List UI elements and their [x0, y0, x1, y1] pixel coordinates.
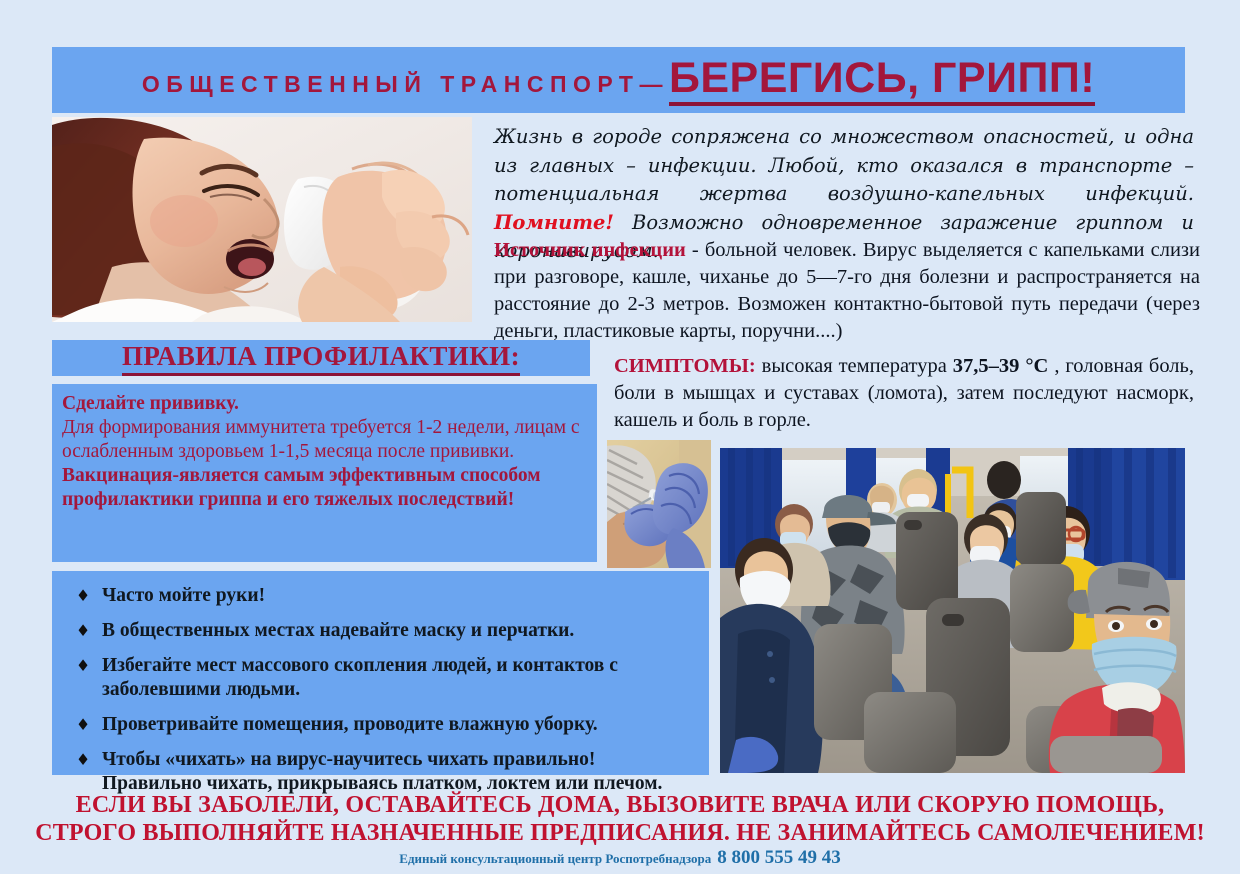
- footer-warning-line-1: ЕСЛИ ВЫ ЗАБОЛЕЛИ, ОСТАВАЙТЕСЬ ДОМА, ВЫЗО…: [0, 792, 1240, 819]
- symptoms-text-before: высокая температура: [756, 355, 953, 377]
- list-item: ♦ Проветривайте помещения, проводите вла…: [64, 713, 697, 737]
- prevention-bullet-list: ♦ Часто мойте руки! ♦ В общественных мес…: [52, 571, 709, 775]
- sneezing-woman-illustration: [52, 117, 472, 322]
- vaccine-title: Сделайте прививку.: [62, 392, 587, 416]
- vaccination-advice-box: Сделайте прививку. Для формирования имму…: [52, 384, 597, 562]
- list-item-label: Часто мойте руки!: [102, 584, 697, 608]
- bus-interior-illustration: [720, 448, 1185, 773]
- sneezing-woman-photo: [52, 117, 472, 322]
- diamond-bullet-icon: ♦: [64, 654, 102, 678]
- bus-passengers-photo: [720, 448, 1185, 773]
- list-item: ♦ Избегайте мест массового скопления люд…: [64, 654, 697, 702]
- diamond-bullet-icon: ♦: [64, 713, 102, 737]
- hotline-number[interactable]: 8 800 555 49 43: [717, 847, 841, 868]
- list-item-label: В общественных местах надевайте маску и …: [102, 619, 697, 643]
- list-item-label: Проветривайте помещения, проводите влажн…: [102, 713, 697, 737]
- vaccine-body: Для формирования иммунитета требуется 1-…: [62, 416, 587, 464]
- title-emphasis-text: БЕРЕГИСЬ, ГРИПП!: [669, 56, 1095, 106]
- vaccination-illustration: [607, 440, 711, 568]
- symptoms-temperature-value: 37,5–39 °C: [953, 355, 1049, 377]
- remember-highlight: Помните!: [494, 211, 614, 234]
- title-banner: ОБЩЕСТВЕННЫЙ ТРАНСПОРТ— БЕРЕГИСЬ, ГРИПП!: [52, 47, 1185, 113]
- intro-text-before: Жизнь в городе сопряжена со множеством о…: [494, 125, 1194, 205]
- title-banner-inner: ОБЩЕСТВЕННЫЙ ТРАНСПОРТ— БЕРЕГИСЬ, ГРИПП!: [142, 56, 1095, 106]
- prevention-rules-header: ПРАВИЛА ПРОФИЛАКТИКИ:: [52, 340, 590, 376]
- diamond-bullet-icon: ♦: [64, 619, 102, 643]
- list-item-label: Избегайте мест массового скопления людей…: [102, 654, 697, 702]
- footer-warning-line-2: СТРОГО ВЫПОЛНЯЙТЕ НАЗНАЧЕННЫЕ ПРЕДПИСАНИ…: [0, 820, 1240, 847]
- hotline-row: Единый консультационный центр Роспотребн…: [0, 847, 1240, 869]
- source-lead-label: Источник инфекции: [494, 239, 686, 261]
- source-of-infection-paragraph: Источник инфекции - больной человек. Вир…: [494, 237, 1200, 345]
- symptoms-paragraph: СИМПТОМЫ: высокая температура 37,5–39 °C…: [614, 353, 1194, 434]
- diamond-bullet-icon: ♦: [64, 584, 102, 608]
- vaccine-conclusion: Вакцинация-является самым эффективным сп…: [62, 464, 587, 512]
- list-item: ♦ Чтобы «чихать» на вирус-научитесь чиха…: [64, 748, 697, 796]
- hotline-label: Единый консультационный центр Роспотребн…: [399, 851, 711, 866]
- vaccination-photo: [607, 440, 711, 568]
- poster-page: ОБЩЕСТВЕННЫЙ ТРАНСПОРТ— БЕРЕГИСЬ, ГРИПП!: [0, 0, 1240, 874]
- list-item: ♦ В общественных местах надевайте маску …: [64, 619, 697, 643]
- list-item-label: Чтобы «чихать» на вирус-научитесь чихать…: [102, 748, 697, 796]
- prevention-rules-header-text: ПРАВИЛА ПРОФИЛАКТИКИ:: [122, 341, 520, 376]
- title-lead-text: ОБЩЕСТВЕННЫЙ ТРАНСПОРТ—: [142, 71, 669, 98]
- diamond-bullet-icon: ♦: [64, 748, 102, 772]
- symptoms-lead-label: СИМПТОМЫ:: [614, 355, 756, 377]
- list-item: ♦ Часто мойте руки!: [64, 584, 697, 608]
